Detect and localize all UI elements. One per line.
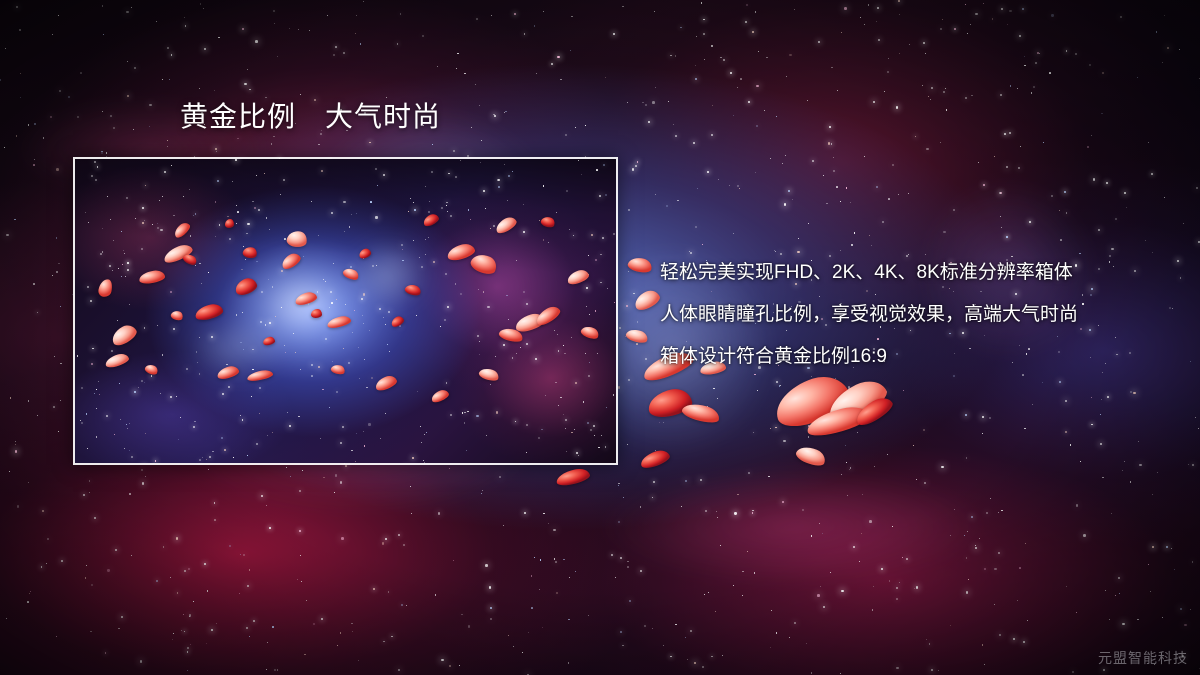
body-line-1: 轻松完美实现FHD、2K、4K、8K标准分辨率箱体 — [660, 252, 1160, 294]
body-line-3: 箱体设计符合黄金比例16:9 — [660, 336, 1160, 378]
inner-starfield — [75, 159, 616, 463]
body-line-2: 人体眼睛瞳孔比例，享受视觉效果，高端大气时尚 — [660, 294, 1160, 336]
watermark-text: 元盟智能科技 — [1098, 648, 1188, 668]
body-text-block: 轻松完美实现FHD、2K、4K、8K标准分辨率箱体 人体眼睛瞳孔比例，享受视觉效… — [660, 252, 1160, 378]
slide-canvas: 黄金比例 大气时尚 轻松完美实现FHD、2K、4K、8K标准分辨率箱体 人体眼睛… — [0, 0, 1200, 675]
framed-image-panel — [73, 157, 618, 465]
framed-image-content — [75, 159, 616, 463]
page-title: 黄金比例 大气时尚 — [180, 100, 441, 134]
